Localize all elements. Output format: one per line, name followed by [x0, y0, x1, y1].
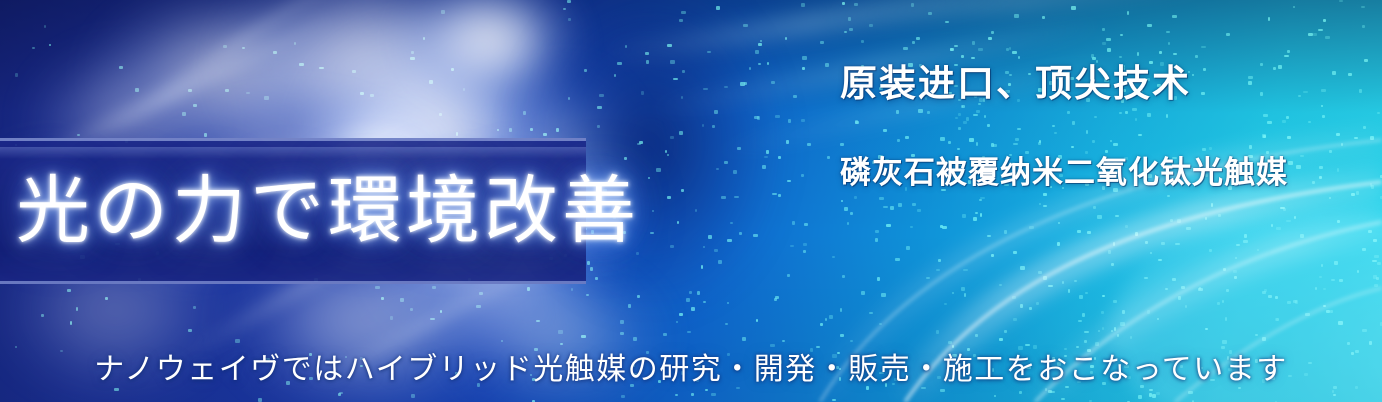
right-copy-line-2: 磷灰石被覆纳米二氧化钛光触媒	[840, 156, 1288, 190]
page-title: 光の力で環境改善	[0, 174, 640, 248]
hero-banner: 光の力で環境改善 原装进口、顶尖技术 磷灰石被覆纳米二氧化钛光触媒 ナノウェイヴ…	[0, 0, 1382, 402]
tagline: ナノウェイヴではハイブリッド光触媒の研究・開発・販売・施工をおこなっています	[0, 344, 1382, 388]
right-copy-line-1: 原装进口、顶尖技术	[840, 64, 1191, 105]
headline-band: 光の力で環境改善	[0, 138, 586, 284]
right-copy-block: 原装进口、顶尖技术 磷灰石被覆纳米二氧化钛光触媒	[840, 64, 1191, 105]
